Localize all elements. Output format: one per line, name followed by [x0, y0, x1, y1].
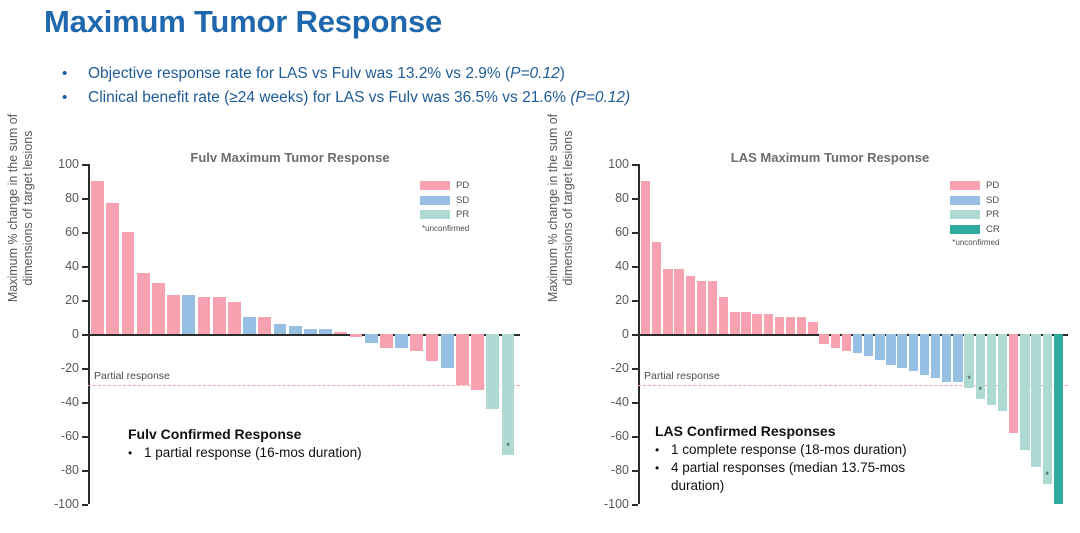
- bar: [274, 324, 287, 334]
- y-axis-tick: [632, 436, 638, 438]
- bar: [152, 283, 165, 334]
- y-axis-tick-label: -100: [604, 497, 629, 511]
- bullet-text: Objective response rate for LAS vs Fulv …: [88, 63, 565, 84]
- bar-slot: [394, 164, 409, 504]
- bar-slot: *: [500, 164, 515, 504]
- bar: [167, 295, 180, 334]
- y-axis-tick-label: 60: [65, 225, 79, 239]
- bar: [987, 334, 996, 405]
- bar-slot: [379, 164, 394, 504]
- legend-label: PR: [986, 209, 999, 220]
- notes-fulv: Fulv Confirmed Response • 1 partial resp…: [128, 426, 362, 462]
- legend-swatch: [950, 181, 980, 190]
- bar-slot: [90, 164, 105, 504]
- y-axis-tick: [82, 300, 88, 302]
- bar: [719, 297, 728, 334]
- bar: [920, 334, 929, 375]
- bar: [786, 317, 795, 334]
- legend-swatch: [950, 210, 980, 219]
- y-axis-tick-label: 100: [58, 157, 79, 171]
- bar: [808, 322, 817, 334]
- bar: [258, 317, 271, 334]
- bullet-text: Clinical benefit rate (≥24 weeks) for LA…: [88, 87, 630, 108]
- legend-label: SD: [456, 195, 469, 206]
- bar: [334, 332, 347, 334]
- bar: [380, 334, 393, 348]
- notes-text: 4 partial responses (median 13.75-mos du…: [671, 459, 955, 495]
- y-axis-tick: [632, 504, 638, 506]
- y-axis-tick-label: 20: [65, 293, 79, 307]
- bar: [942, 334, 951, 382]
- bar-slot: [1030, 164, 1041, 504]
- bar: [456, 334, 469, 385]
- bar-slot: [640, 164, 651, 504]
- y-axis-tick-label: 0: [72, 327, 79, 341]
- bar: [708, 281, 717, 334]
- legend-fulv: PDSDPR*unconfirmed: [420, 180, 469, 233]
- bar: [686, 276, 695, 334]
- bar: [198, 297, 211, 334]
- legend-swatch: [950, 196, 980, 205]
- bar: [931, 334, 940, 378]
- chart-panel-fulv: Maximum % change in the sum of dimension…: [0, 148, 540, 533]
- bar: [897, 334, 906, 368]
- bar: [486, 334, 499, 409]
- y-axis-tick-label: -100: [54, 497, 79, 511]
- legend-item: PR: [950, 209, 1000, 220]
- y-axis-tick: [82, 470, 88, 472]
- notes-text: 1 complete response (18-mos duration): [671, 441, 907, 459]
- bar: [652, 242, 661, 334]
- bar-slot: [470, 164, 485, 504]
- bullet-marker: •: [655, 441, 671, 459]
- list-item: • Clinical benefit rate (≥24 weeks) for …: [62, 87, 1002, 108]
- y-axis-tick-label: 20: [615, 293, 629, 307]
- y-axis-tick: [82, 402, 88, 404]
- bar-slot: [1019, 164, 1030, 504]
- bar: [641, 181, 650, 334]
- y-axis-tick: [82, 164, 88, 166]
- bullet-marker: •: [128, 444, 144, 462]
- bar: [243, 317, 256, 334]
- y-axis-tick: [82, 198, 88, 200]
- notes-text: 1 partial response (16-mos duration): [144, 444, 362, 462]
- bar-slot: [1053, 164, 1064, 504]
- unconfirmed-marker: *: [967, 376, 971, 382]
- bar-slot: [1008, 164, 1019, 504]
- bullet-marker: •: [62, 87, 88, 108]
- y-axis-tick-label: -40: [611, 395, 629, 409]
- bar: [831, 334, 840, 348]
- bar: [91, 181, 104, 334]
- legend-label: PD: [456, 180, 469, 191]
- y-axis-tick-label: 80: [65, 191, 79, 205]
- bar-slot: [485, 164, 500, 504]
- bar: [819, 334, 828, 344]
- bar: [426, 334, 439, 361]
- bar-slot: [364, 164, 379, 504]
- legend-swatch: [420, 210, 450, 219]
- bar: [842, 334, 851, 351]
- bar: [775, 317, 784, 334]
- bar: [441, 334, 454, 368]
- notes-title: Fulv Confirmed Response: [128, 426, 362, 442]
- legend-swatch: [420, 196, 450, 205]
- bar: [1020, 334, 1029, 450]
- legend-note: *unconfirmed: [422, 224, 469, 233]
- legend-item: PD: [420, 180, 469, 191]
- y-axis-tick-label: 0: [622, 327, 629, 341]
- bar: [875, 334, 884, 360]
- legend-label: PR: [456, 209, 469, 220]
- chart-title-fulv: Fulv Maximum Tumor Response: [0, 150, 540, 165]
- legend-swatch: [950, 225, 980, 234]
- bar: [319, 329, 332, 334]
- unconfirmed-marker: *: [1045, 472, 1049, 478]
- list-item: • 1 partial response (16-mos duration): [128, 444, 362, 462]
- legend-label: PD: [986, 180, 999, 191]
- y-axis-title: Maximum % change in the sum of dimension…: [546, 108, 576, 308]
- legend-las: PDSDPRCR*unconfirmed: [950, 180, 1000, 247]
- y-axis-tick: [632, 402, 638, 404]
- bar: [106, 203, 119, 334]
- y-axis-tick: [82, 232, 88, 234]
- y-axis-tick-label: -40: [61, 395, 79, 409]
- unconfirmed-marker: *: [506, 443, 510, 449]
- bar: [228, 302, 241, 334]
- y-axis-tick: [632, 164, 638, 166]
- chart-panel-las: Maximum % change in the sum of dimension…: [540, 148, 1080, 533]
- bar: [998, 334, 1007, 411]
- bar: [1043, 334, 1052, 484]
- bar: [909, 334, 918, 371]
- legend-label: SD: [986, 195, 999, 206]
- legend-swatch: [420, 181, 450, 190]
- bar: [853, 334, 862, 353]
- legend-label: CR: [986, 224, 1000, 235]
- y-axis-tick-label: -20: [611, 361, 629, 375]
- legend-note: *unconfirmed: [952, 238, 1000, 247]
- y-axis-tick: [82, 504, 88, 506]
- list-item: • Objective response rate for LAS vs Ful…: [62, 63, 1002, 84]
- y-axis-tick-label: 60: [615, 225, 629, 239]
- bar: [365, 334, 378, 343]
- y-axis-tick-label: 40: [615, 259, 629, 273]
- y-axis-tick-label: -60: [61, 429, 79, 443]
- legend-item: SD: [950, 195, 1000, 206]
- bar: [350, 334, 363, 337]
- y-axis-tick: [632, 368, 638, 370]
- y-axis-tick: [632, 198, 638, 200]
- bar-slot: *: [1042, 164, 1053, 504]
- y-axis-tick-label: 100: [608, 157, 629, 171]
- y-axis-tick: [632, 470, 638, 472]
- y-axis-tick: [632, 300, 638, 302]
- bar-slot: [105, 164, 120, 504]
- notes-title: LAS Confirmed Responses: [655, 423, 955, 439]
- bar: [395, 334, 408, 348]
- y-axis-tick: [82, 368, 88, 370]
- bar: [304, 329, 317, 334]
- bar: [1054, 334, 1063, 504]
- bar: [663, 269, 672, 334]
- list-item: • 4 partial responses (median 13.75-mos …: [655, 459, 955, 495]
- bar: [1031, 334, 1040, 467]
- bar: [182, 295, 195, 334]
- bar: [289, 326, 302, 335]
- y-axis-tick-label: -80: [61, 463, 79, 477]
- y-axis-tick-label: -60: [611, 429, 629, 443]
- list-item: • 1 complete response (18-mos duration): [655, 441, 955, 459]
- y-axis-tick: [632, 266, 638, 268]
- y-axis-title: Maximum % change in the sum of dimension…: [6, 108, 36, 308]
- legend-item: PD: [950, 180, 1000, 191]
- y-axis-tick-label: 80: [615, 191, 629, 205]
- bar: [953, 334, 962, 382]
- page-title: Maximum Tumor Response: [44, 4, 442, 40]
- bar: [752, 314, 761, 334]
- notes-las: LAS Confirmed Responses • 1 complete res…: [655, 423, 955, 495]
- y-axis-tick-label: -20: [61, 361, 79, 375]
- bar: [864, 334, 873, 356]
- bar: [471, 334, 484, 390]
- bar: [730, 312, 739, 334]
- y-axis-tick: [82, 266, 88, 268]
- bar: [122, 232, 135, 334]
- bullet-marker: •: [655, 459, 671, 495]
- bar: [886, 334, 895, 365]
- bar: [697, 281, 706, 334]
- unconfirmed-marker: *: [979, 387, 983, 393]
- bar: [137, 273, 150, 334]
- bar: [741, 312, 750, 334]
- bar: [674, 269, 683, 334]
- bar: [797, 317, 806, 334]
- bar: [213, 297, 226, 334]
- bullet-list: • Objective response rate for LAS vs Ful…: [62, 63, 1002, 111]
- bar: [410, 334, 423, 351]
- legend-item: CR: [950, 224, 1000, 235]
- legend-item: SD: [420, 195, 469, 206]
- y-axis-tick-label: 40: [65, 259, 79, 273]
- y-axis-tick: [632, 232, 638, 234]
- y-axis-tick-label: -80: [611, 463, 629, 477]
- y-axis-tick: [82, 436, 88, 438]
- legend-item: PR: [420, 209, 469, 220]
- bar: [1009, 334, 1018, 433]
- bullet-marker: •: [62, 63, 88, 84]
- bar: [764, 314, 773, 334]
- bar: [502, 334, 515, 455]
